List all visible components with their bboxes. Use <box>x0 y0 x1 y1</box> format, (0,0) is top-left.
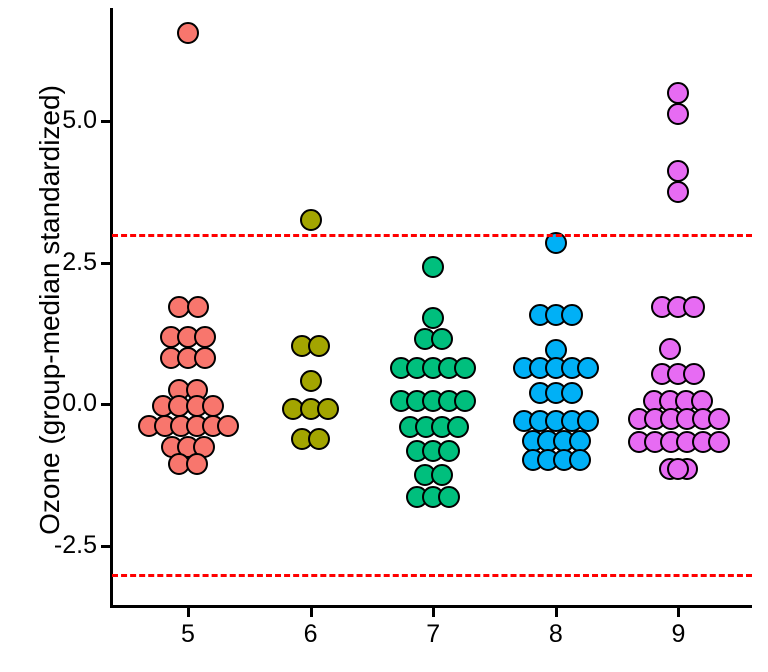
data-point-group-6 <box>308 428 330 450</box>
ozone-dotplot-chart: Ozone (group-median standardized) 5.02.5… <box>0 0 768 672</box>
data-point-group-7 <box>454 390 476 412</box>
y-axis-tick <box>101 403 110 406</box>
data-point-group-9 <box>667 82 689 104</box>
data-point-group-6 <box>308 335 330 357</box>
data-point-group-6 <box>317 398 339 420</box>
x-axis-tick-label: 7 <box>426 622 440 647</box>
data-point-group-7 <box>438 440 460 462</box>
data-point-group-8 <box>561 304 583 326</box>
data-point-group-9 <box>683 296 705 318</box>
data-point-group-5 <box>194 326 216 348</box>
upper-threshold-line <box>112 234 752 237</box>
x-axis-tick <box>187 608 190 617</box>
y-axis-tick <box>101 120 110 123</box>
data-point-group-7 <box>454 357 476 379</box>
data-point-group-5 <box>217 415 239 437</box>
x-axis-tick-label: 6 <box>304 622 318 647</box>
y-axis-tick <box>101 262 110 265</box>
data-point-group-5 <box>202 395 224 417</box>
data-point-group-8 <box>577 357 599 379</box>
data-point-group-5 <box>177 22 199 44</box>
data-point-group-8 <box>569 449 591 471</box>
data-point-group-5 <box>187 296 209 318</box>
data-point-group-9 <box>683 363 705 385</box>
data-point-group-9 <box>659 338 681 360</box>
x-axis-tick <box>555 608 558 617</box>
data-point-group-7 <box>438 486 460 508</box>
y-axis-tick <box>101 545 110 548</box>
data-point-group-7 <box>447 416 469 438</box>
x-axis-tick-label: 8 <box>549 622 563 647</box>
data-point-group-7 <box>431 328 453 350</box>
data-point-group-9 <box>667 458 689 480</box>
data-points-layer <box>0 0 768 672</box>
data-point-group-7 <box>422 256 444 278</box>
data-point-group-9 <box>667 160 689 182</box>
data-point-group-9 <box>667 181 689 203</box>
x-axis-tick <box>677 608 680 617</box>
data-point-group-8 <box>577 410 599 432</box>
data-point-group-8 <box>561 382 583 404</box>
data-point-group-5 <box>186 453 208 475</box>
data-point-group-9 <box>708 431 730 453</box>
x-axis-tick-label: 9 <box>671 622 685 647</box>
data-point-group-5 <box>194 347 216 369</box>
x-axis-tick <box>310 608 313 617</box>
lower-threshold-line <box>112 574 752 577</box>
x-axis-tick <box>432 608 435 617</box>
data-point-group-6 <box>300 370 322 392</box>
data-point-group-9 <box>667 103 689 125</box>
data-point-group-9 <box>708 408 730 430</box>
data-point-group-7 <box>422 307 444 329</box>
x-axis-tick-label: 5 <box>181 622 195 647</box>
data-point-group-6 <box>300 209 322 231</box>
data-point-group-7 <box>431 464 453 486</box>
